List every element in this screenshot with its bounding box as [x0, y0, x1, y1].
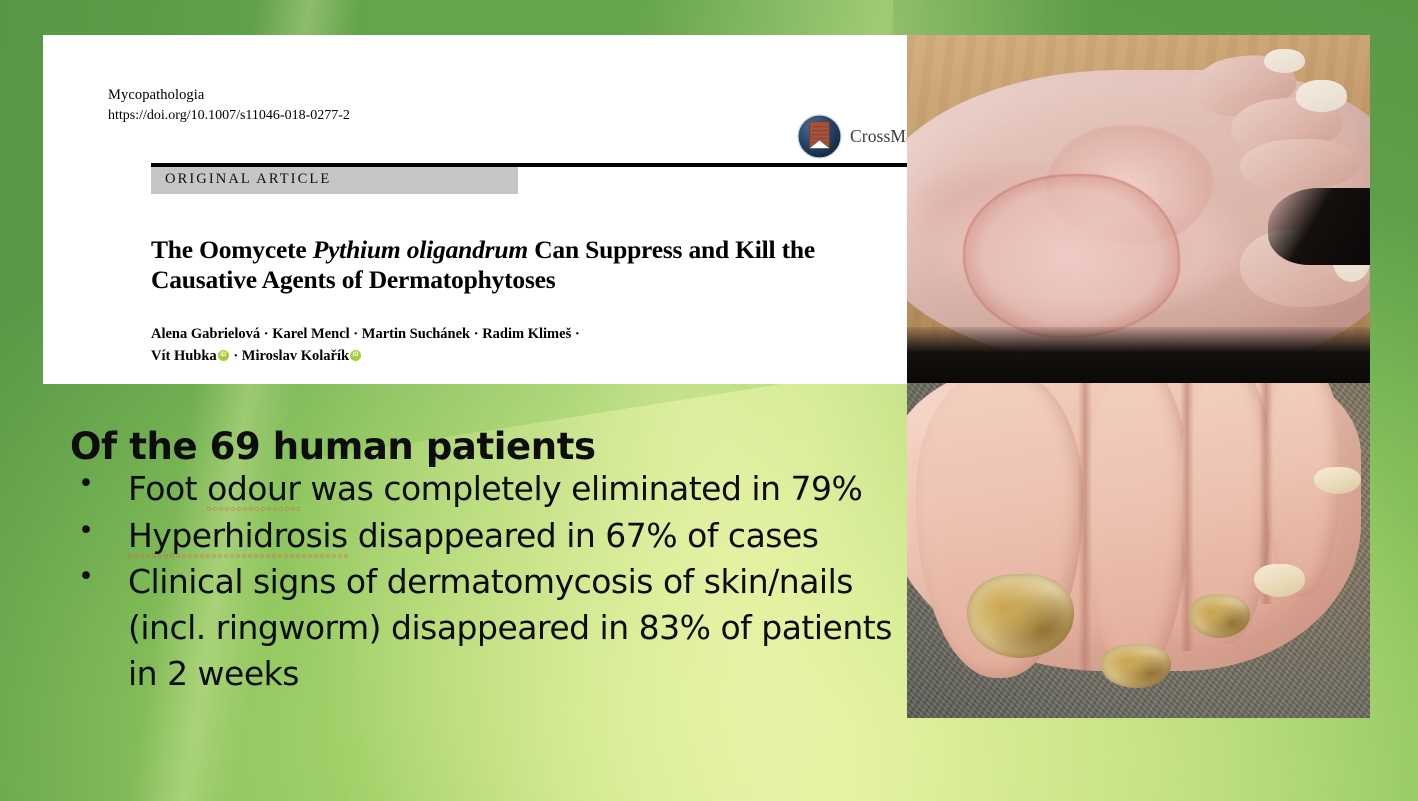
bullet-text-post: disappeared in 67% of cases [348, 516, 819, 555]
bullet-text-pre: Clinical signs of dermatomycosis of skin… [128, 562, 853, 601]
journal-name: Mycopathologia [108, 85, 877, 106]
article-title-part1: The Oomycete [151, 235, 313, 264]
authors-line-1: Alena Gabrielová · Karel Mencl · Martin … [151, 326, 580, 342]
list-item: Hyperhidrosis disappeared in 67% of case… [70, 513, 910, 559]
bullet-text-pre: in 2 weeks [128, 654, 299, 693]
photo-onychomycosis-toenails [907, 383, 1370, 718]
list-item-continuation: in 2 weeks [70, 651, 910, 697]
article-type-label: ORIGINAL ARTICLE [151, 167, 518, 188]
article-type-band: ORIGINAL ARTICLE [151, 167, 518, 194]
list-item: Clinical signs of dermatomycosis of skin… [70, 559, 910, 605]
presentation-slide: Mycopathologia https://doi.org/10.1007/s… [0, 0, 1418, 801]
toenail-1 [1264, 49, 1306, 73]
author-vit-hubka: Vít Hubka [151, 348, 217, 364]
misspelled-word: odour [207, 469, 300, 512]
ringworm-lesion-ring [963, 174, 1180, 338]
orcid-icon[interactable] [350, 350, 361, 361]
slide-body: Of the 69 human patients Foot odour was … [70, 428, 910, 697]
slide-heading: Of the 69 human patients [70, 428, 910, 466]
photo-dark-foreground [907, 327, 1370, 383]
journal-article-card: Mycopathologia https://doi.org/10.1007/s… [43, 35, 907, 384]
bullet-text-pre: Foot [128, 469, 207, 508]
third-toenail-infected [1189, 594, 1249, 638]
authors-line-2-rest: · Miroslav Kolařík [230, 348, 349, 364]
bullet-text-pre: (incl. ringworm) disappeared in 83% of p… [128, 608, 892, 647]
article-masthead: Mycopathologia https://doi.org/10.1007/s… [108, 85, 877, 126]
orcid-icon[interactable] [218, 350, 229, 361]
fifth-toenail [1314, 467, 1360, 494]
list-item-continuation: (incl. ringworm) disappeared in 83% of p… [70, 605, 910, 651]
article-title-species: Pythium oligandrum [313, 235, 528, 264]
photo-shadow-wedge [1268, 188, 1370, 265]
photo-dermatophytosis-foot [907, 35, 1370, 383]
article-doi[interactable]: https://doi.org/10.1007/s11046-018-0277-… [108, 106, 877, 126]
crossmark-badge[interactable]: CrossMark [796, 113, 907, 160]
toe-separation-1 [1078, 383, 1092, 671]
article-authors: Alena Gabrielová · Karel Mencl · Martin … [151, 323, 751, 368]
misspelled-word: Hyperhidrosis [128, 516, 348, 559]
crossmark-icon [796, 113, 843, 160]
second-toenail-infected [1101, 644, 1170, 688]
toenail-2 [1296, 80, 1347, 111]
big-toenail-infected [967, 574, 1073, 658]
bullet-text-post: was completely eliminated in 79% [300, 469, 862, 508]
findings-list: Foot odour was completely eliminated in … [70, 466, 910, 697]
article-title: The Oomycete Pythium oligandrum Can Supp… [151, 235, 871, 295]
crossmark-label: CrossMark [850, 126, 907, 147]
list-item: Foot odour was completely eliminated in … [70, 466, 910, 512]
